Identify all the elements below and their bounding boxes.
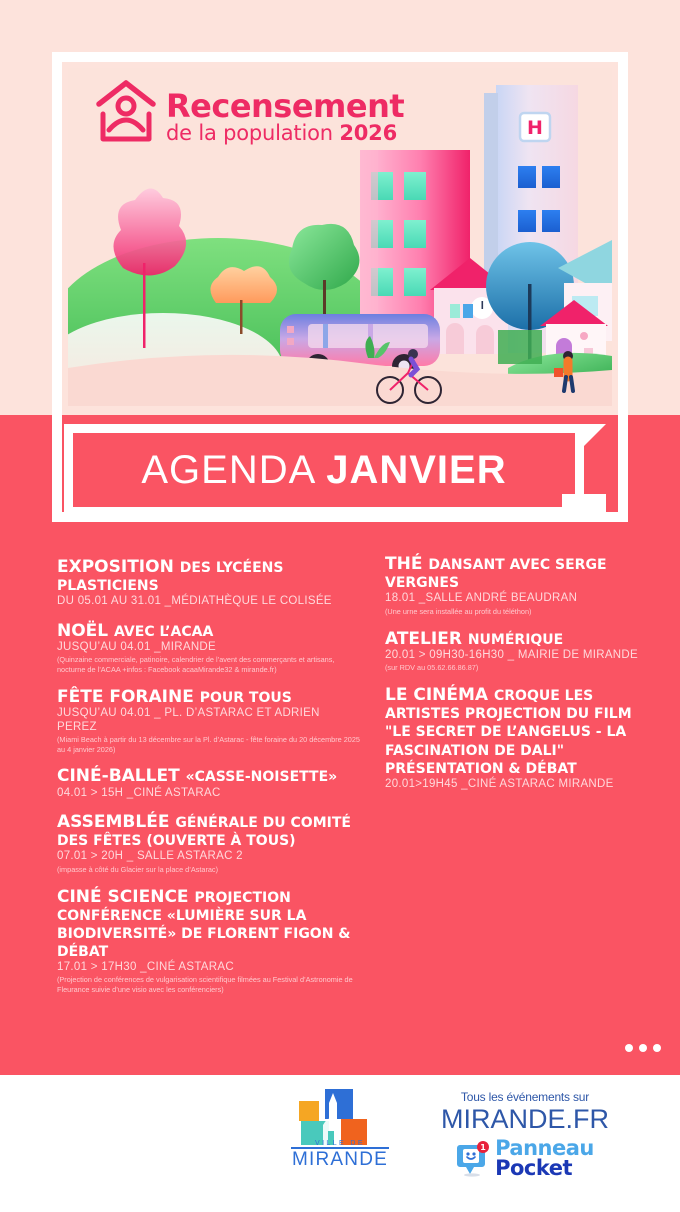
event-place: 17.01 > 17H30 _CINÉ ASTARAC <box>57 961 362 974</box>
event-place: DU 05.01 AU 31.01 _MÉDIATHÈQUE LE COLISÉ… <box>57 595 362 608</box>
event-title: THÉ DANSANT AVEC SERGE VERGNES <box>385 555 655 591</box>
agenda-banner: AGENDA JANVIER <box>64 424 584 516</box>
event-title: LE CINÉMA CROQUE LES ARTISTES PROJECTION… <box>385 686 655 777</box>
event-item[interactable]: ASSEMBLÉE GÉNÉRALE DU COMITÉ DES FÊTES (… <box>57 813 362 875</box>
pp-word-pocket: Pocket <box>495 1159 594 1179</box>
ville-de-mirande-logo: VILLE DE MIRANDE <box>285 1085 395 1170</box>
event-place: JUSQU’AU 04.01 _ PL. D’ASTARAC ET ADRIEN… <box>57 707 362 733</box>
ville-top-line: VILLE DE <box>315 1140 365 1147</box>
agenda-light-word: AGENDA <box>141 448 326 492</box>
event-item[interactable]: LE CINÉMA CROQUE LES ARTISTES PROJECTION… <box>385 686 655 791</box>
event-place: 07.01 > 20H _ SALLE ASTARAC 2 <box>57 850 362 863</box>
house-person-icon <box>95 78 157 144</box>
panneau-pocket-icon: 1 <box>456 1141 490 1177</box>
banner-fold-base <box>562 494 606 516</box>
event-title-rest: POUR TOUS <box>200 690 292 706</box>
event-title-strong: NOËL <box>57 621 114 641</box>
recensement-logo: Recensement de la population 2026 <box>95 78 404 144</box>
event-item[interactable]: EXPOSITION DES LYCÉENS PLASTICIENSDU 05.… <box>57 558 362 609</box>
event-title-strong: CINÉ SCIENCE <box>57 887 194 907</box>
event-title: EXPOSITION DES LYCÉENS PLASTICIENS <box>57 558 362 594</box>
event-title-rest: NUMÉRIQUE <box>468 632 563 648</box>
event-title: CINÉ-BALLET «CASSE-NOISETTE» <box>57 767 362 785</box>
event-item[interactable]: CINÉ-BALLET «CASSE-NOISETTE»04.01 > 15H … <box>57 767 362 800</box>
event-item[interactable]: NOËL AVEC L’ACAAJUSQU’AU 04.01 _MIRANDE(… <box>57 622 362 675</box>
event-title: ATELIER NUMÉRIQUE <box>385 630 655 648</box>
event-title: NOËL AVEC L’ACAA <box>57 622 362 640</box>
event-place: 20.01>19H45 _CINÉ ASTARAC MIRANDE <box>385 778 655 791</box>
dot-3[interactable] <box>653 1044 661 1052</box>
census-title: Recensement <box>166 90 404 122</box>
banner-fold-corner <box>584 424 606 446</box>
event-note: (sur RDV au 05.62.66.86.87) <box>385 663 655 673</box>
event-title: CINÉ SCIENCE PROJECTION CONFÉRENCE «LUMI… <box>57 888 362 961</box>
agenda-bold-word: JANVIER <box>326 448 506 492</box>
event-title-strong: THÉ <box>385 554 428 574</box>
event-title-strong: EXPOSITION <box>57 557 180 577</box>
event-item[interactable]: CINÉ SCIENCE PROJECTION CONFÉRENCE «LUMI… <box>57 888 362 996</box>
dot-1[interactable] <box>625 1044 633 1052</box>
event-note: (Projection de conférences de vulgarisat… <box>57 975 362 995</box>
event-title-strong: LE CINÉMA <box>385 685 494 705</box>
footer-links: Tous les événements sur MIRANDE.FR 1 Pan… <box>440 1090 610 1179</box>
event-note: (Quinzaine commerciale, patinoire, calen… <box>57 655 362 675</box>
event-title-strong: ASSEMBLÉE <box>57 812 175 832</box>
panneau-pocket-logo[interactable]: 1 Panneau Pocket <box>440 1139 610 1179</box>
event-place: 04.01 > 15H _CINÉ ASTARAC <box>57 787 362 800</box>
event-item[interactable]: ATELIER NUMÉRIQUE20.01 > 09H30-16H30 _ M… <box>385 630 655 673</box>
events-right-column: THÉ DANSANT AVEC SERGE VERGNES18.01 _SAL… <box>385 555 655 804</box>
event-place: 18.01 _SALLE ANDRÉ BEAUDRAN <box>385 592 655 605</box>
event-note: (Miami Beach à partir du 13 décembre sur… <box>57 735 362 755</box>
pp-badge-count: 1 <box>480 1143 486 1152</box>
events-tagline: Tous les événements sur <box>440 1090 610 1104</box>
event-item[interactable]: THÉ DANSANT AVEC SERGE VERGNES18.01 _SAL… <box>385 555 655 617</box>
census-subtitle: de la population 2026 <box>166 123 404 144</box>
event-item[interactable]: FÊTE FORAINE POUR TOUSJUSQU’AU 04.01 _ P… <box>57 688 362 754</box>
pagination-dots[interactable] <box>625 1044 661 1052</box>
event-note: (Une urne sera installée au profit du té… <box>385 607 655 617</box>
ville-bottom-line: MIRANDE <box>292 1149 388 1170</box>
event-title: ASSEMBLÉE GÉNÉRALE DU COMITÉ DES FÊTES (… <box>57 813 362 849</box>
event-place: JUSQU’AU 04.01 _MIRANDE <box>57 641 362 654</box>
event-note: (impasse à côté du Glacier sur la place … <box>57 865 362 875</box>
event-title-rest: AVEC L’ACAA <box>114 624 213 640</box>
event-place: 20.01 > 09H30-16H30 _ MAIRIE DE MIRANDE <box>385 649 655 662</box>
dot-2[interactable] <box>639 1044 647 1052</box>
event-title-strong: CINÉ-BALLET <box>57 766 186 786</box>
event-title-strong: ATELIER <box>385 629 468 649</box>
agenda-title: AGENDA JANVIER <box>141 448 506 493</box>
site-url[interactable]: MIRANDE.FR <box>440 1106 610 1133</box>
event-title: FÊTE FORAINE POUR TOUS <box>57 688 362 706</box>
event-title-rest: «CASSE-NOISETTE» <box>186 769 338 785</box>
events-left-column: EXPOSITION DES LYCÉENS PLASTICIENSDU 05.… <box>57 558 362 1008</box>
event-title-strong: FÊTE FORAINE <box>57 687 200 707</box>
